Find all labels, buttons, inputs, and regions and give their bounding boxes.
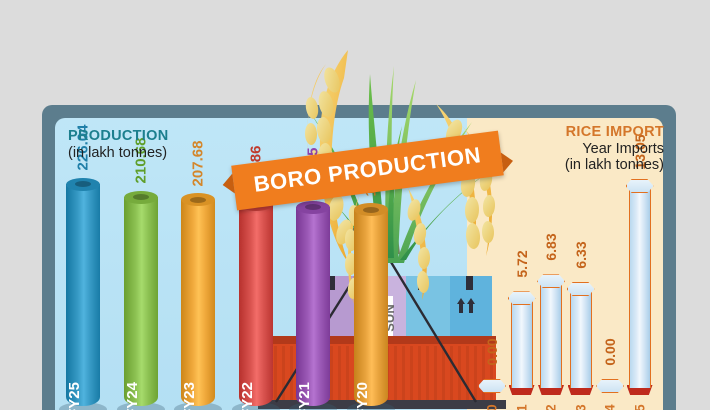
bar-category-label: FY25 [66,382,83,410]
bar-category-label: FY24 [603,404,618,410]
bar-category-label: FY22 [544,404,559,410]
bar-category-label: FY24 [124,382,141,410]
bar-top-cap [478,379,506,393]
bar-category-label: FY25 [632,404,647,410]
bar-category-label: FY20 [354,382,371,410]
infographic-canvas: PRODUCTION (in lakh tonnes) RICE IMPORT … [0,0,710,410]
bar-body [540,283,562,388]
rice-import-heading-title: RICE IMPORT [565,124,664,141]
bar-category-label: FY23 [573,404,588,410]
bar-category-label: FY21 [514,404,529,410]
bar-top-cap [354,203,388,216]
bar-value-label: 207.68 [190,140,207,186]
bar-body [570,291,592,388]
bar-value-label: 0.00 [602,338,618,365]
bar-body [296,207,330,406]
bar-category-label: FY22 [239,382,256,410]
bar-body [629,188,651,388]
bar-value-label: 0.00 [484,338,500,365]
bar-top-cap [596,379,624,393]
production-heading-unit: (in lakh tonnes) [68,145,168,162]
bar-body [181,200,215,406]
bar-value-label: 6.83 [543,234,559,261]
bar-body [354,210,388,406]
production-heading: PRODUCTION (in lakh tonnes) [68,128,168,161]
rice-import-heading-unit: (in lakh tonnes) [565,157,664,174]
production-heading-title: PRODUCTION [68,128,168,145]
rice-import-heading: RICE IMPORT Year Imports (in lakh tonnes… [565,124,664,174]
bar-top-cap [66,178,100,191]
bar-body [66,184,100,406]
bar-category-label: FY23 [181,382,198,410]
rice-import-heading-sub: Year Imports [565,141,664,158]
bar-value-label: 6.33 [573,241,589,268]
bar-category-label: FY20 [485,404,500,410]
bar-category-label: FY21 [296,382,313,410]
bar-top-cap [296,201,330,214]
bar-body [239,205,273,406]
bar-top-cap [124,191,158,204]
bar-body [124,197,158,406]
bar-value-label: 5.72 [514,251,530,278]
bar-body [511,300,533,388]
